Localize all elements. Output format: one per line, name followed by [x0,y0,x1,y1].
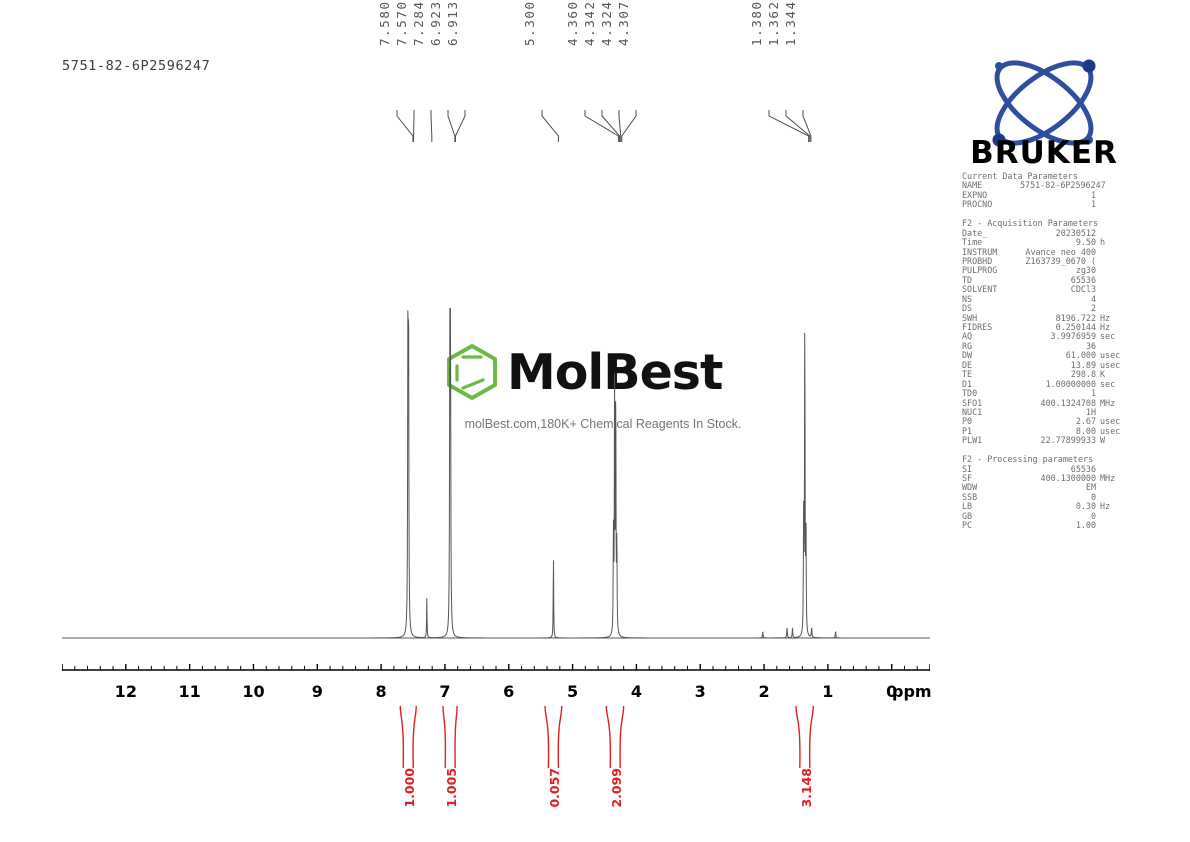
integral-curve [796,706,800,768]
atom-node-icon [995,62,1003,70]
parameter-row: LB0.30Hz [962,502,1122,511]
parameter-key: PLW1 [962,436,1020,445]
parameter-row: SFO1400.1324708MHz [962,399,1122,408]
integral-value-label: 1.005 [444,768,459,808]
parameter-key: PC [962,521,1020,530]
peak-leader-line [622,110,636,142]
parameter-value: 4 [1020,295,1096,304]
parameter-section-heading: F2 - Processing parameters [962,455,1122,464]
sample-id-label: 5751-82-6P2596247 [62,58,210,74]
atom-node-icon [1083,60,1096,73]
peak-shift-label: 4.360 [565,0,580,46]
integral-curve [413,706,416,768]
parameter-row: TE298.8K [962,370,1122,379]
axis-tick-label: 1 [822,682,833,701]
axis-tick-label: 5 [567,682,578,701]
integral-curve [558,706,561,768]
peak-leader-line [455,110,465,142]
ppm-axis: ppm 1211109876543210 [62,664,930,710]
peak-shift-label: 1.344 [783,0,798,46]
peak-leader-line [397,110,413,142]
nmr-spectrum-plot [62,300,930,645]
parameter-value: EM [1020,483,1096,492]
parameter-value: CDCl3 [1020,285,1096,294]
parameter-key: PROCNO [962,200,1020,209]
axis-tick-label: 12 [115,682,137,701]
axis-tick-label: 9 [312,682,323,701]
peak-shift-label: 7.284 [411,0,426,46]
integral-curve [606,706,610,768]
parameter-value: 1.00 [1020,521,1096,530]
axis-ruler-svg [62,664,930,682]
parameter-row: D11.00000000sec [962,380,1122,389]
parameter-row: WDWEM [962,483,1122,492]
peak-leader-line [542,110,558,142]
parameter-row: Date_20230512 [962,229,1122,238]
integral-curve [400,706,403,768]
integral-curve [620,706,624,768]
peak-shift-label: 4.307 [616,0,631,46]
parameter-unit: h [1096,238,1105,247]
peak-shift-label: 7.580 [377,0,392,46]
parameter-row: PROCNO1 [962,200,1122,209]
parameter-row: DS2 [962,304,1122,313]
acquisition-parameter-block: Current Data ParametersNAME5751-82-6P259… [962,172,1122,531]
parameter-row: NUC11H [962,408,1122,417]
parameter-row: PLW122.77899933W [962,436,1122,445]
parameter-value: 400.1324708 [1020,399,1096,408]
parameter-value: 0.30 [1020,502,1096,511]
peak-shift-label: 1.380 [749,0,764,46]
integral-curve [810,706,814,768]
parameter-row: AQ3.9976959sec [962,332,1122,341]
spectrum-trace [62,308,930,638]
integral-value-label: 2.099 [609,768,624,808]
integral-value-label: 3.148 [799,768,814,808]
parameter-row: NS4 [962,295,1122,304]
axis-tick-label: 6 [503,682,514,701]
parameter-row: DW61.000usec [962,351,1122,360]
axis-tick-label: 10 [242,682,264,701]
nmr-report-page: 5751-82-6P2596247 7.5807.5707.2846.9236.… [0,0,1190,842]
axis-tick-label: 7 [439,682,450,701]
integral-region: 1.0001.0050.0572.0993.148 [62,706,930,776]
parameter-unit: Hz [1096,502,1110,511]
integral-curve [545,706,548,768]
peak-shift-label: 4.324 [599,0,614,46]
parameter-value: 400.1300000 [1020,474,1096,483]
peak-shift-label: 1.362 [766,0,781,46]
integral-curve [443,706,445,768]
axis-unit-label: ppm [892,682,932,701]
parameter-unit: sec [1096,332,1115,341]
parameter-value: 1.00000000 [1020,380,1096,389]
parameter-unit: MHz [1096,474,1115,483]
parameter-unit: sec [1096,380,1115,389]
integral-value-label: 0.057 [547,768,562,808]
axis-tick-label: 3 [695,682,706,701]
integral-value-label: 1.000 [402,768,417,808]
parameter-value: 5751-82-6P2596247 [1020,181,1096,190]
axis-tick-label: 0 [886,682,897,701]
parameter-row: SSB0 [962,493,1122,502]
parameter-unit: MHz [1096,399,1115,408]
parameter-row: SF400.1300000MHz [962,474,1122,483]
parameter-value: 1 [1020,191,1096,200]
peak-shift-label: 7.570 [394,0,409,46]
bruker-wordmark: BRUKER [958,138,1130,169]
parameter-unit: W [1096,436,1105,445]
axis-tick-label: 2 [758,682,769,701]
peak-shift-label: 6.923 [428,0,443,46]
axis-tick-label: 4 [631,682,642,701]
parameter-value: 3.9976959 [1020,332,1096,341]
parameter-row: PULPROGzg30 [962,266,1122,275]
parameter-row: DE13.89usec [962,361,1122,370]
parameter-row: PC1.00 [962,521,1122,530]
parameter-row: FIDRES0.250144Hz [962,323,1122,332]
peak-leader-line [602,110,620,142]
axis-tick-label: 11 [179,682,201,701]
parameter-row: P02.67usec [962,417,1122,426]
parameter-row: RG36 [962,342,1122,351]
peak-shift-label: 6.913 [445,0,460,46]
peak-shift-label: 5.300 [522,0,537,46]
peak-leader-line [448,110,455,142]
parameter-row: GB0 [962,512,1122,521]
peak-leader-lines [62,92,582,184]
parameter-value: 1 [1020,200,1096,209]
peak-shift-label: 4.342 [582,0,597,46]
axis-tick-label: 8 [376,682,387,701]
bruker-logo: BRUKER [958,52,1130,154]
integral-curves-svg [62,706,930,776]
integral-curve [455,706,457,768]
peak-leader-line [431,110,432,142]
spectrum-trace-svg [62,300,930,645]
parameter-row: SOLVENTCDCl3 [962,285,1122,294]
parameter-value: 22.77899933 [1020,436,1096,445]
